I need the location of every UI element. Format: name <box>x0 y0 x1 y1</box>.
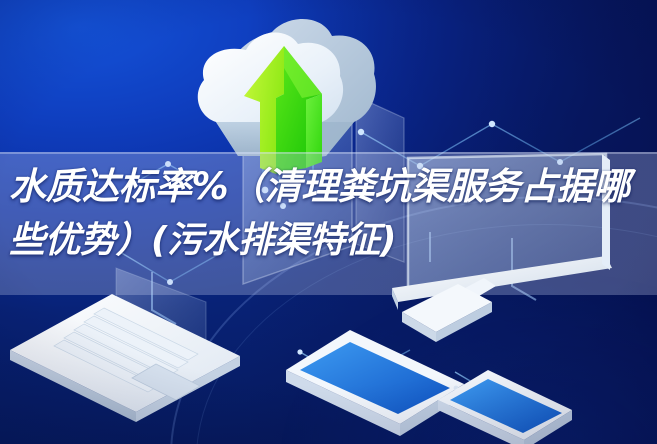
background-vignette <box>0 0 657 444</box>
banner-canvas: 水质达标率%（清理粪坑渠服务占据哪 些优势）(污水排渠特征) <box>0 0 657 444</box>
